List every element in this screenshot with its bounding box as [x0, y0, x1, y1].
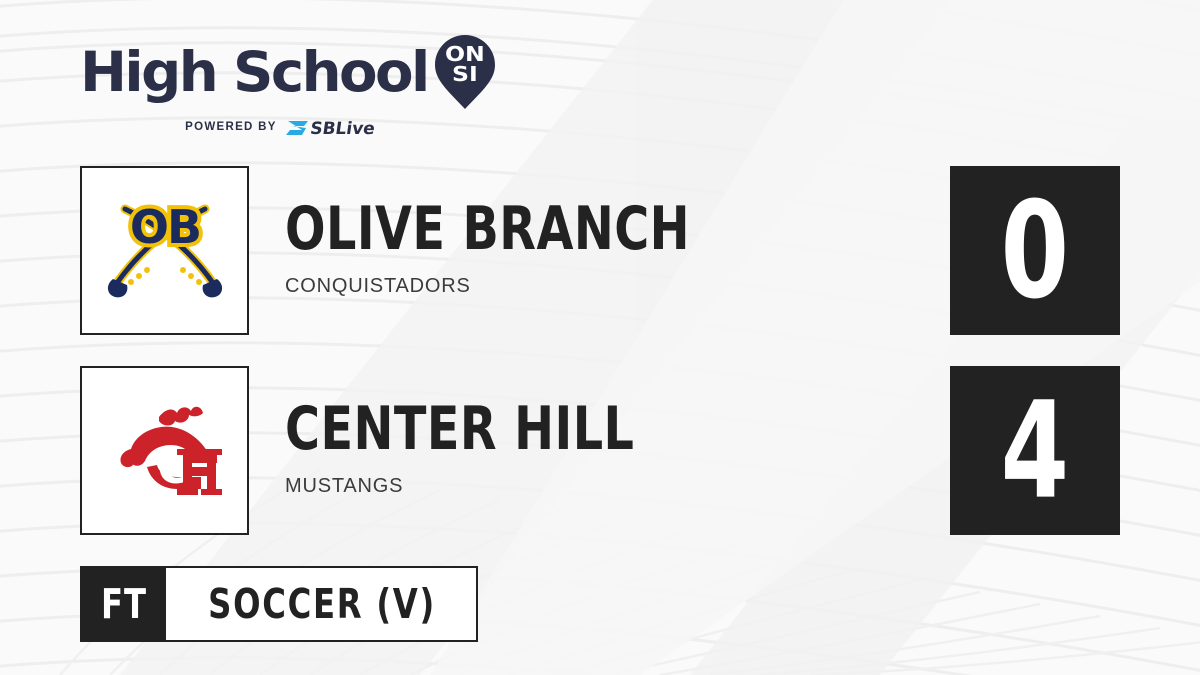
powered-by-row: POWERED BY SBLive — [86, 117, 497, 137]
powered-by-label: POWERED BY — [185, 121, 277, 133]
brand-lockup: High School ON SI POWERED BY SBLive — [80, 34, 497, 137]
status-sport-badge: SOCCER (V) — [166, 568, 476, 640]
team-mascot: CONQUISTADORS — [285, 275, 735, 298]
team-mascot: MUSTANGS — [285, 475, 673, 498]
game-status-bar: FT SOCCER (V) — [80, 566, 478, 642]
scorecard-graphic: High School ON SI POWERED BY SBLive — [0, 0, 1200, 675]
team-identity: CENTER HILL MUSTANGS — [285, 366, 673, 535]
pin-text-si: SI — [452, 64, 478, 87]
team-name: CENTER HILL — [285, 400, 634, 459]
sblive-s-mark — [286, 121, 308, 135]
team-identity: OLIVE BRANCH CONQUISTADORS — [285, 166, 735, 335]
team-score-box: 4 — [950, 366, 1120, 535]
status-sport-label: SOCCER (V) — [208, 580, 436, 628]
team-score: 0 — [1001, 184, 1069, 318]
team-name: OLIVE BRANCH — [285, 200, 690, 259]
team-logo-box: OB OB — [80, 166, 249, 335]
on-si-pin-icon: ON SI — [433, 34, 497, 110]
olive-branch-sabers-logo-icon: OB OB — [101, 187, 229, 315]
svg-text:OB: OB — [129, 200, 199, 254]
team-score-box: 0 — [950, 166, 1120, 335]
brand-primary-row: High School ON SI — [80, 34, 497, 110]
team-score: 4 — [1001, 384, 1069, 518]
sblive-logo: SBLive — [286, 117, 398, 137]
status-period-badge: FT — [82, 568, 166, 640]
team-logo-box: C — [80, 366, 249, 535]
high-school-wordmark: High School — [80, 45, 428, 100]
center-hill-mustang-logo-icon: C — [101, 387, 229, 515]
sblive-wordmark: SBLive — [309, 119, 376, 137]
status-period-label: FT — [101, 580, 147, 628]
